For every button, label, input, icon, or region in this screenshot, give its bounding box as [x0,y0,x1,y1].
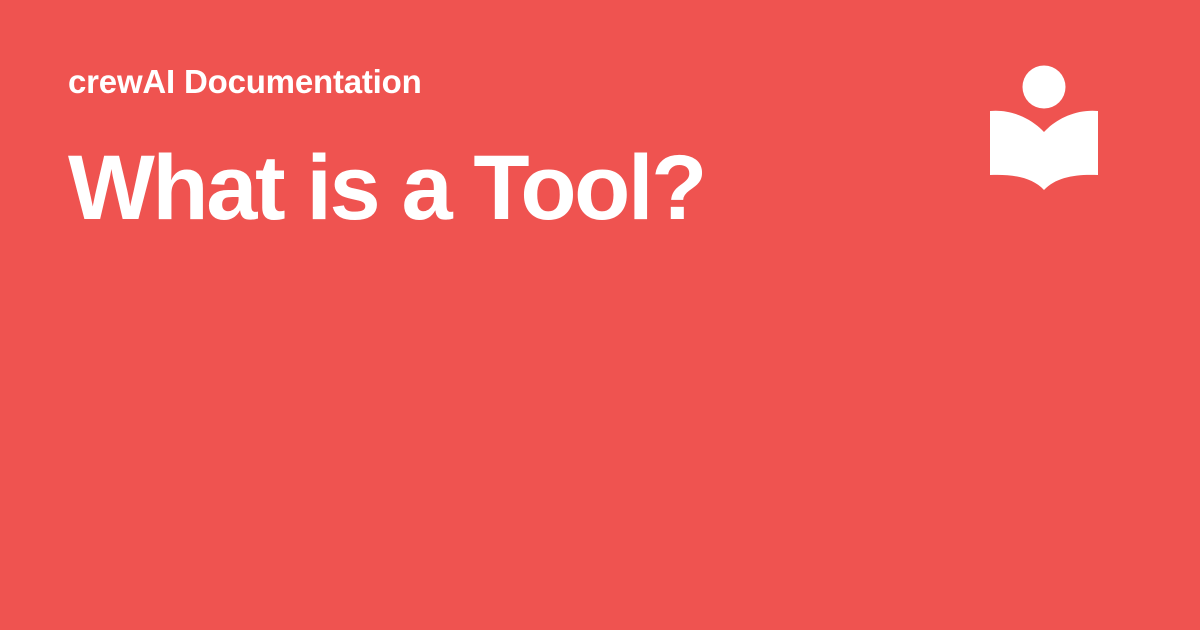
card-text-block: crewAI Documentation What is a Tool? [68,60,928,240]
page-title: What is a Tool? [68,136,928,240]
book-right-page-shape [1044,111,1098,190]
site-name: crewAI Documentation [68,60,928,104]
reader-head-shape [1023,66,1066,109]
og-card: crewAI Documentation What is a Tool? [0,0,1200,630]
book-left-page-shape [990,111,1044,190]
open-book-reader-icon [986,62,1102,194]
